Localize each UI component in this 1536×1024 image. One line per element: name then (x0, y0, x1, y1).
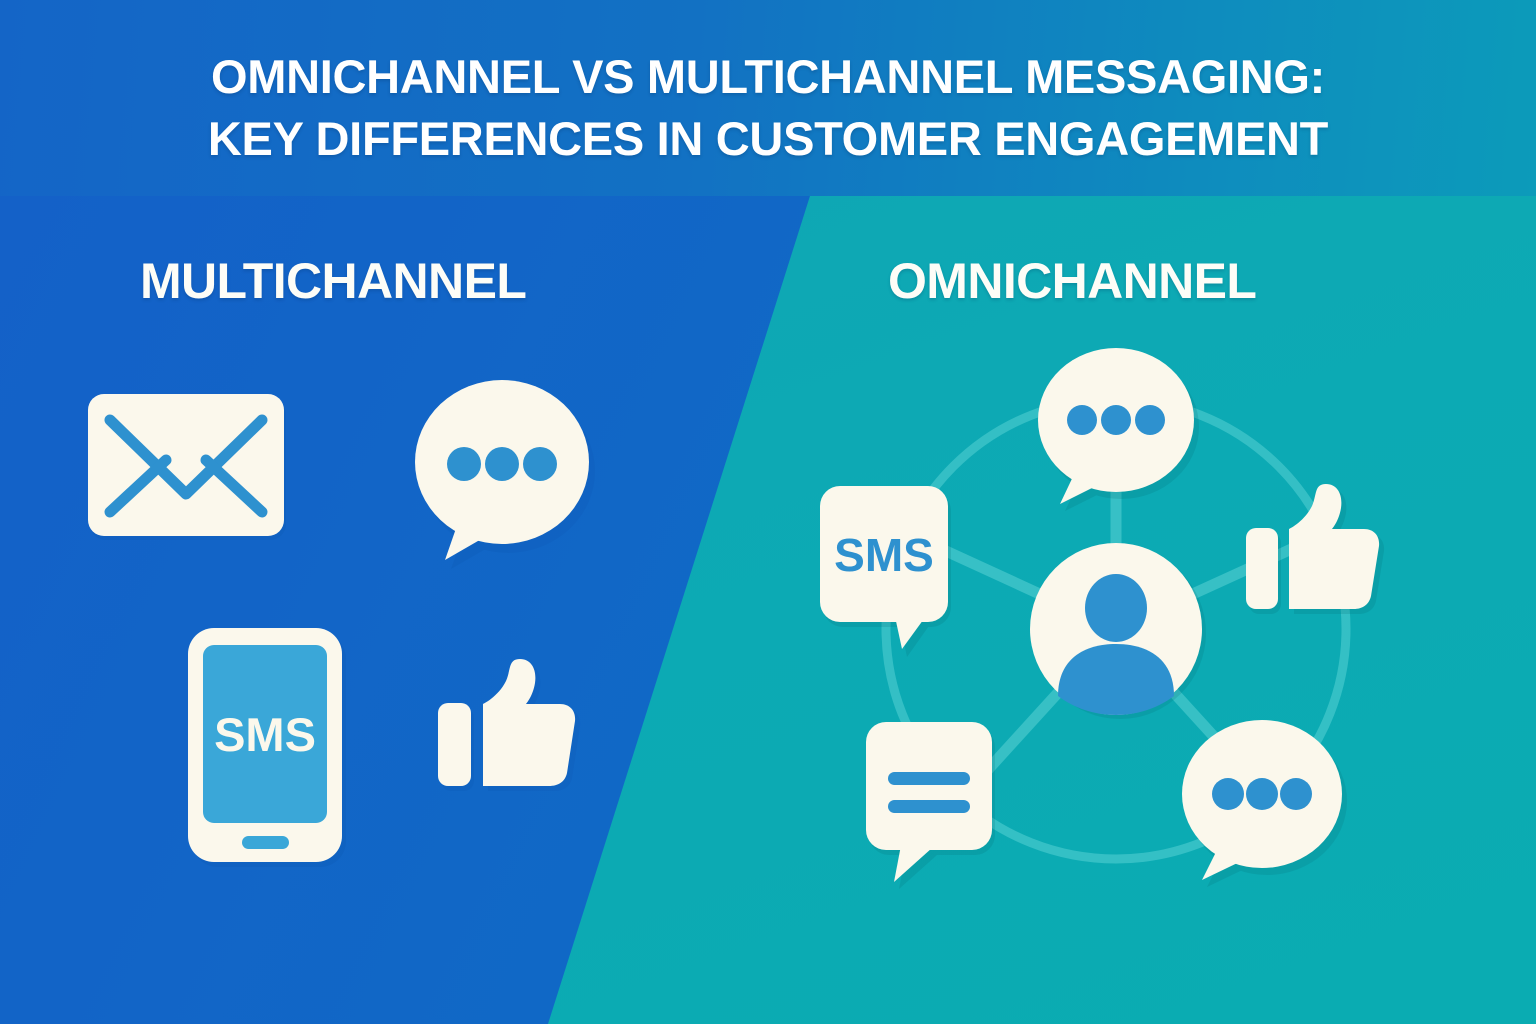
sms-bubble-label: SMS (834, 529, 934, 581)
email-envelope-icon (88, 394, 288, 544)
mobile-phone-sms-icon: SMS (188, 628, 348, 868)
message-lines-icon (866, 722, 1006, 886)
omnichannel-hub-diagram: SMS (806, 344, 1426, 904)
thumbs-up-icon (1246, 484, 1392, 630)
omnichannel-heading: OMNICHANNEL (888, 252, 1256, 310)
thumbs-up-icon (438, 658, 590, 808)
sms-bubble-icon: SMS (820, 486, 966, 652)
chat-bubble-dots-icon (1176, 720, 1348, 888)
title-line-1: OMNICHANNEL VS MULTICHANNEL MESSAGING: (70, 46, 1466, 108)
page-title: OMNICHANNEL VS MULTICHANNEL MESSAGING: K… (0, 46, 1536, 170)
chat-bubble-dots-icon (412, 378, 598, 570)
customer-avatar-icon (1028, 541, 1208, 721)
infographic-canvas: OMNICHANNEL VS MULTICHANNEL MESSAGING: K… (0, 0, 1536, 1024)
multichannel-heading: MULTICHANNEL (140, 252, 526, 310)
phone-sms-label: SMS (214, 708, 316, 761)
chat-bubble-dots-icon (1032, 348, 1200, 512)
title-line-2: KEY DIFFERENCES IN CUSTOMER ENGAGEMENT (70, 108, 1466, 170)
